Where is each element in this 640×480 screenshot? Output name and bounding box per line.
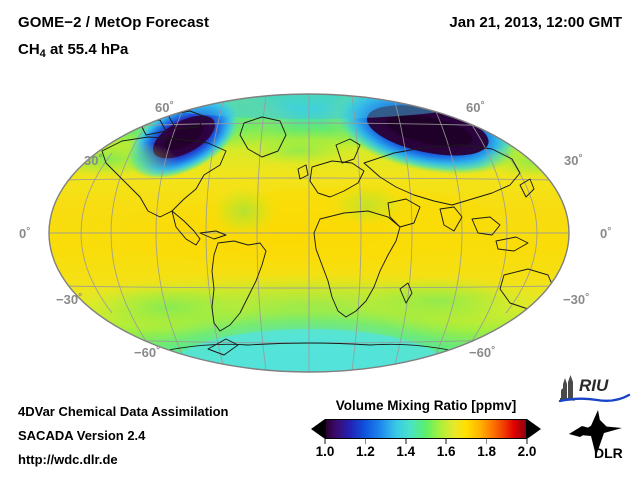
dlr-logo-svg: DLR — [560, 408, 630, 460]
cathedral-towers-icon — [560, 375, 575, 401]
lat-label-left-60: 60° — [155, 100, 173, 115]
timestamp-label: Jan 21, 2013, 12:00 GMT — [449, 14, 622, 31]
colorbar: Volume Mixing Ratio [ppmv] 1.01.21.41.61… — [311, 398, 541, 462]
altitude-label: at 55.4 hPa — [46, 41, 129, 58]
lat-label-right-30: 30° — [564, 153, 582, 168]
lat-label-right-minus60: −60° — [469, 345, 495, 360]
colorbar-title: Volume Mixing Ratio [ppmv] — [311, 398, 541, 413]
lat-label-left-minus30: −30° — [56, 292, 82, 307]
mollweide-map-svg — [48, 93, 570, 373]
colorbar-tick-label: 1.2 — [356, 444, 375, 459]
colorbar-tick-label: 1.6 — [437, 444, 456, 459]
colorbar-extend-min-arrow — [311, 419, 325, 439]
lat-label-left-0: 0° — [19, 226, 30, 241]
colorbar-extend-max-arrow — [527, 419, 541, 439]
lat-label-right-60: 60° — [466, 100, 484, 115]
lat-label-left-minus60: −60° — [134, 345, 160, 360]
world-map — [48, 93, 570, 373]
lat-label-right-minus30: −30° — [563, 292, 589, 307]
riu-logo-svg: RIU — [557, 374, 631, 404]
page-title: GOME−2 / MetOp Forecast — [18, 14, 209, 31]
colorbar-tick-labels: 1.01.21.41.61.82.0 — [325, 444, 527, 462]
lat-label-left-30: 30° — [84, 153, 102, 168]
dlr-logo: DLR — [560, 408, 630, 460]
lat-label-right-0: 0° — [600, 226, 611, 241]
colorbar-tick-label: 1.8 — [477, 444, 496, 459]
riu-wordmark: RIU — [579, 376, 609, 395]
figure-canvas: GOME−2 / MetOp Forecast CH4 at 55.4 hPa … — [0, 0, 640, 480]
assimilation-method-label: 4DVar Chemical Data Assimilation — [18, 404, 229, 419]
species-label: CH — [18, 41, 40, 58]
species-altitude-label: CH4 at 55.4 hPa — [18, 41, 128, 60]
colorbar-tick-label: 1.4 — [396, 444, 415, 459]
version-label: SACADA Version 2.4 — [18, 428, 145, 443]
website-url-label: http://wdc.dlr.de — [18, 452, 118, 467]
riu-logo: RIU — [557, 374, 631, 404]
colorbar-bar-row — [311, 419, 541, 439]
colorbar-tick-label: 1.0 — [316, 444, 335, 459]
colorbar-tick-label: 2.0 — [518, 444, 537, 459]
dlr-wordmark: DLR — [594, 445, 623, 460]
map-data-layer — [48, 93, 570, 373]
colorbar-gradient — [325, 419, 527, 439]
